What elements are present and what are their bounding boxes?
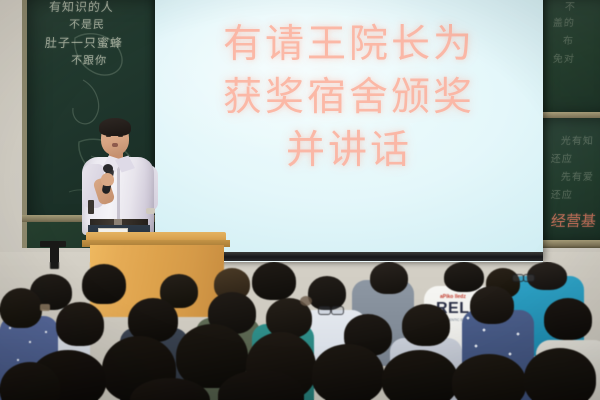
blackboard-right-red-chalk: 经营基	[550, 210, 597, 231]
hair-clip	[40, 304, 50, 311]
eyeglasses	[318, 306, 331, 315]
audience-head	[524, 348, 596, 400]
blackboard-left-chalk-line-2: 不是民	[68, 16, 105, 32]
audience-head	[544, 298, 592, 340]
blackboard-right-chalk-ledge-lower	[536, 240, 600, 248]
blackboard-right-upper: 不 盖的 布 免对	[536, 0, 600, 116]
audience-head	[82, 264, 126, 304]
speaker-hair	[99, 118, 131, 136]
audience-head	[402, 304, 450, 346]
speaker-hand	[101, 173, 114, 186]
blackboard-left-chalk-line-3: 肚子一只蜜蜂	[44, 34, 123, 51]
projection-screen: 有请王院长为 获奖宿舍颁奖 并讲话	[155, 0, 543, 262]
audience-head	[308, 276, 346, 310]
audience-head	[0, 288, 42, 328]
audience-head	[56, 302, 104, 346]
audience: aPiko lledz RELIA AUTHENTIC SPORTSWEAR	[0, 262, 600, 400]
blackboard-left-chalk-line-1: 有知识的人	[48, 0, 114, 15]
speaker-shirt-placket	[117, 165, 120, 223]
speaker-wristwatch	[146, 208, 155, 214]
slide-line-2: 获奖宿舍颁奖	[155, 71, 543, 124]
slide-line-1: 有请王院长为	[155, 18, 543, 71]
audience-head	[470, 286, 514, 324]
eyeglasses	[523, 274, 535, 282]
audience-head	[370, 262, 408, 294]
eyeglasses	[331, 306, 344, 315]
audience-head	[382, 350, 458, 400]
photo-canvas: 有知识的人 不是民 肚子一只蜜蜂 不跟你 不 盖的 布 免对 光有知 还应 先有…	[0, 0, 600, 400]
microphone-head	[103, 164, 113, 173]
blackboard-right-lower: 光有知 还应 先有爱 还应 经营基	[536, 118, 600, 244]
audience-head	[312, 344, 384, 400]
blackboard-right-chalk-7: 先有爱	[560, 168, 594, 183]
blackboard-right-chalk-6: 还应	[550, 150, 573, 165]
blackboard-right-chalk-3: 布	[562, 32, 574, 47]
hair-tie	[300, 296, 312, 306]
blackboard-right-chalk-5: 光有知	[560, 132, 594, 147]
blackboard-right-chalk-8: 还应	[550, 186, 573, 201]
speaker-badge	[88, 200, 94, 214]
projection-screen-surface: 有请王院长为 获奖宿舍颁奖 并讲话	[155, 0, 543, 252]
blackboard-left-chalk-line-4: 不跟你	[70, 52, 107, 68]
blackboard-right-chalk-4: 免对	[552, 50, 575, 65]
blackboard-right-chalk-2: 盖的	[552, 14, 575, 29]
slide-line-3: 并讲话	[155, 124, 543, 177]
audience-head	[444, 262, 484, 292]
blackboard-right-chalk-1: 不	[564, 0, 576, 13]
audience-head	[252, 262, 296, 300]
